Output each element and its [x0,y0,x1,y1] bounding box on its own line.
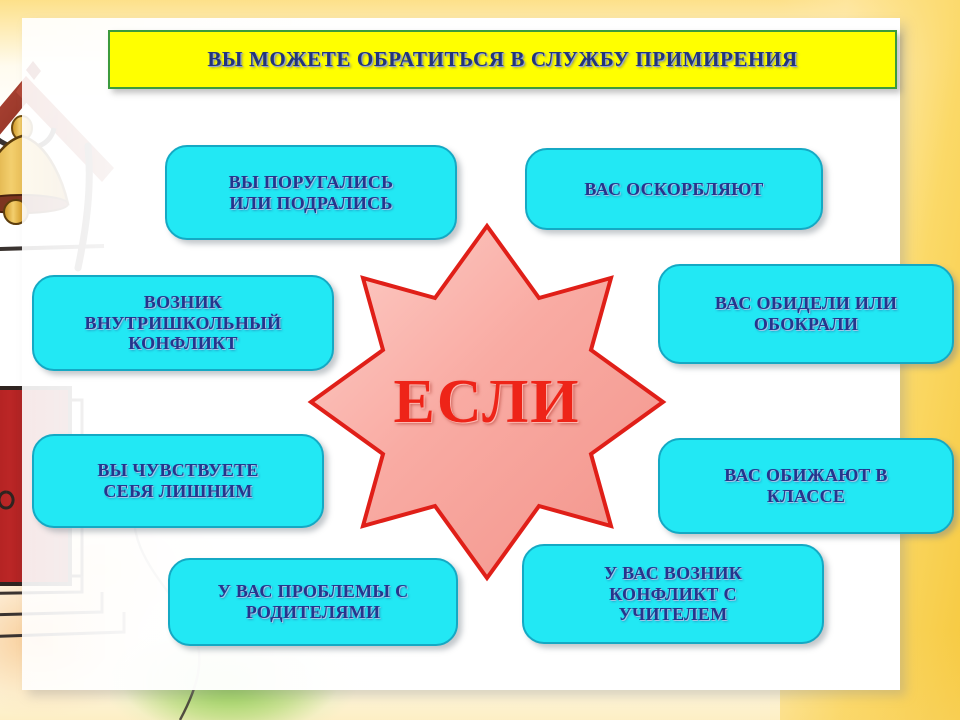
condition-box-label: ВАС ОСКОРБЛЯЮТ [584,179,763,200]
condition-box-label: У ВАС ВОЗНИК КОНФЛИКТ С УЧИТЕЛЕМ [604,563,742,625]
condition-box-insulted[interactable]: ВАС ОСКОРБЛЯЮТ [525,148,823,230]
center-star: ЕСЛИ [307,222,667,582]
title-banner: ВЫ МОЖЕТЕ ОБРАТИТЬСЯ В СЛУЖБУ ПРИМИРЕНИЯ [108,30,897,89]
condition-box-label: ВЫ ЧУВСТВУЕТЕ СЕБЯ ЛИШНИМ [97,460,258,501]
condition-box-label: У ВАС ПРОБЛЕМЫ С РОДИТЕЛЯМИ [218,581,409,622]
condition-box-parent-problems[interactable]: У ВАС ПРОБЛЕМЫ С РОДИТЕЛЯМИ [168,558,458,646]
condition-box-label: ВОЗНИК ВНУТРИШКОЛЬНЫЙ КОНФЛИКТ [85,292,282,354]
condition-box-label: ВАС ОБИЖАЮТ В КЛАССЕ [724,465,887,506]
page-title: ВЫ МОЖЕТЕ ОБРАТИТЬСЯ В СЛУЖБУ ПРИМИРЕНИЯ [207,47,797,72]
condition-box-offended-robbed[interactable]: ВАС ОБИДЕЛИ ИЛИ ОБОКРАЛИ [658,264,954,364]
condition-box-teacher-conflict[interactable]: У ВАС ВОЗНИК КОНФЛИКТ С УЧИТЕЛЕМ [522,544,824,644]
slide-canvas: ВЫ МОЖЕТЕ ОБРАТИТЬСЯ В СЛУЖБУ ПРИМИРЕНИЯ… [0,0,960,720]
condition-box-label: ВЫ ПОРУГАЛИСЬ ИЛИ ПОДРАЛИСЬ [229,172,394,213]
condition-box-school-conflict[interactable]: ВОЗНИК ВНУТРИШКОЛЬНЫЙ КОНФЛИКТ [32,275,334,371]
condition-box-feel-excluded[interactable]: ВЫ ЧУВСТВУЕТЕ СЕБЯ ЛИШНИМ [32,434,324,528]
condition-box-bullied-in-class[interactable]: ВАС ОБИЖАЮТ В КЛАССЕ [658,438,954,534]
star-shape-icon [307,222,667,582]
condition-box-quarrel[interactable]: ВЫ ПОРУГАЛИСЬ ИЛИ ПОДРАЛИСЬ [165,145,457,240]
condition-box-label: ВАС ОБИДЕЛИ ИЛИ ОБОКРАЛИ [715,293,897,334]
